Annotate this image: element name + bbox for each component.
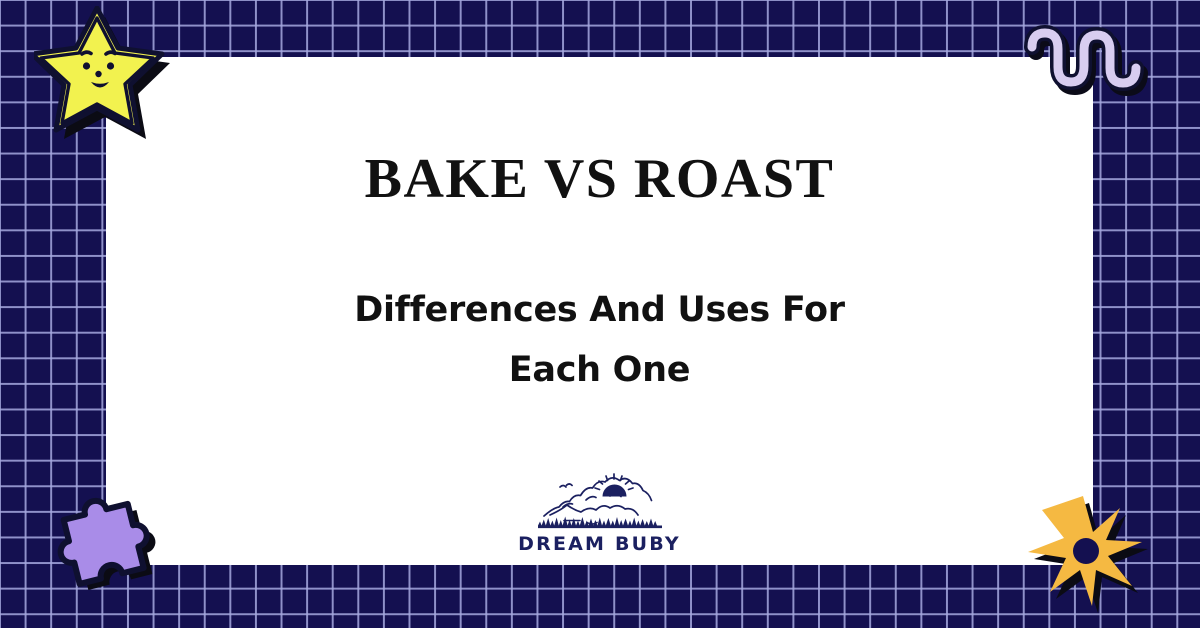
brand-wordmark: DREAM BUBY	[518, 533, 681, 555]
puzzle-piece-sticker-icon	[48, 492, 170, 622]
content-card: BAKE VS ROAST Differences And Uses For E…	[106, 57, 1093, 565]
poster-canvas: BAKE VS ROAST Differences And Uses For E…	[0, 0, 1200, 628]
brand-logo: DREAM BUBY	[510, 470, 690, 555]
smiling-star-sticker-icon	[34, 6, 174, 140]
squiggle-wave-sticker-icon	[1018, 24, 1154, 100]
content-card-inner: BAKE VS ROAST Differences And Uses For E…	[106, 57, 1093, 565]
page-subtitle: Differences And Uses For Each One	[320, 280, 880, 400]
mountain-sunset-logo-icon	[530, 470, 670, 532]
page-title: BAKE VS ROAST	[365, 151, 835, 207]
starburst-sticker-icon	[1026, 494, 1152, 618]
